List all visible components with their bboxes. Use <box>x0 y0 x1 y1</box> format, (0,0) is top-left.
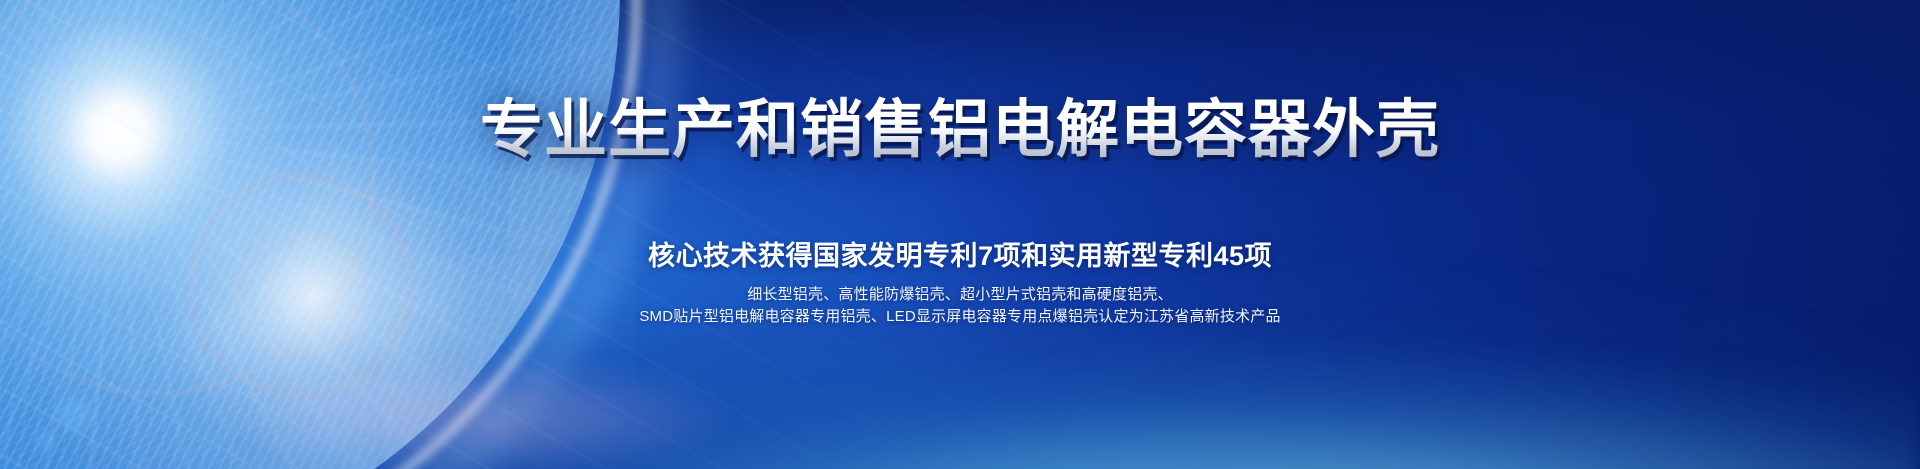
banner-fineprint-line-2: SMD贴片型铝电解电容器专用铝壳、LED显示屏电容器专用点爆铝壳认定为江苏省高新… <box>639 306 1280 328</box>
banner-content: 专业生产和销售铝电解电容器外壳 核心技术获得国家发明专利7项和实用新型专利45项… <box>0 0 1920 469</box>
banner-subheadline: 核心技术获得国家发明专利7项和实用新型专利45项 <box>648 234 1272 273</box>
banner-fineprint: 细长型铝壳、高性能防爆铝壳、超小型片式铝壳和高硬度铝壳、 SMD贴片型铝电解电容… <box>639 284 1280 328</box>
hero-banner: 专业生产和销售铝电解电容器外壳 核心技术获得国家发明专利7项和实用新型专利45项… <box>0 0 1920 469</box>
banner-headline: 专业生产和销售铝电解电容器外壳 <box>480 96 1440 162</box>
banner-fineprint-line-1: 细长型铝壳、高性能防爆铝壳、超小型片式铝壳和高硬度铝壳、 <box>639 284 1280 306</box>
